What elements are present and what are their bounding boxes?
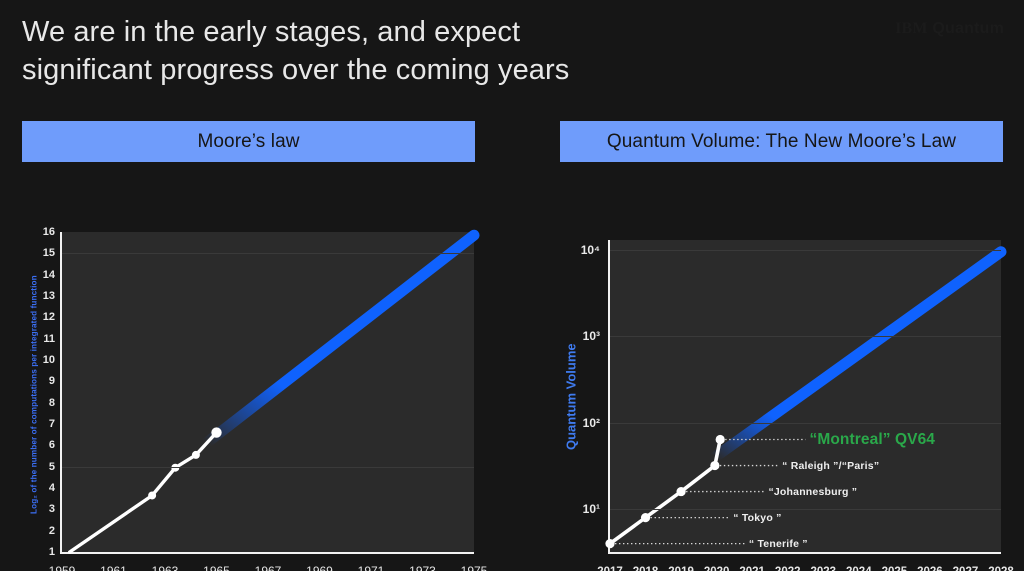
x-tick-label: 2025 (882, 566, 908, 571)
x-tick-label: 2024 (846, 566, 872, 571)
y-tick-label: 5 (49, 461, 55, 473)
y-tick-label: 4 (49, 482, 55, 494)
x-tick-label: 1973 (409, 564, 436, 571)
moores-law-panel-title: Moore’s law (22, 121, 475, 162)
gridline (610, 336, 1001, 337)
y-tick-label: 8 (49, 397, 55, 409)
y-tick-label: 10 (43, 354, 55, 366)
x-tick-label: 2019 (668, 566, 694, 571)
moores-law-series-layer (62, 232, 474, 552)
quantum-volume-panel-title: Quantum Volume: The New Moore’s Law (560, 121, 1003, 162)
y-tick-label: 10⁴ (581, 243, 600, 257)
x-tick-label: 2022 (775, 566, 801, 571)
y-tick-label: 9 (49, 375, 55, 387)
ibm-quantum-logo: IBM Quantum (895, 20, 1004, 38)
moores-law-plot-area: 1234567891011121314151619591961196319651… (60, 232, 474, 554)
x-tick-label: 2023 (810, 566, 836, 571)
moores-law-y-axis-label: Log₂ of the number of computations per i… (27, 237, 41, 552)
y-tick-label: 3 (49, 503, 55, 515)
gridline (610, 423, 1001, 424)
gridline (62, 467, 474, 468)
x-tick-label: 1967 (255, 564, 282, 571)
y-tick-label: 15 (43, 247, 55, 259)
quantum-volume-plot-area: 10¹10²10³10⁴2017201820192020202120222023… (608, 240, 1001, 554)
gridline (610, 250, 1001, 251)
annotation-label: “ Tenerife ” (749, 538, 808, 550)
x-tick-label: 1971 (358, 564, 385, 571)
page-title: We are in the early stages, and expect s… (22, 14, 722, 89)
y-tick-label: 2 (49, 525, 55, 537)
x-tick-label: 2026 (917, 566, 943, 571)
x-tick-label: 1961 (100, 564, 127, 571)
brand-quantum-text: Quantum (932, 20, 1004, 37)
y-tick-label: 7 (49, 418, 55, 430)
annotation-label: “ Tokyo ” (733, 512, 781, 524)
x-tick-label: 1963 (152, 564, 179, 571)
y-tick-label: 13 (43, 290, 55, 302)
x-tick-label: 1969 (306, 564, 333, 571)
annotation-label: “Johannesburg ” (768, 486, 857, 498)
brand-ibm-text: IBM (895, 20, 928, 37)
quantum-volume-series-layer (610, 240, 1001, 552)
x-tick-label: 2018 (633, 566, 659, 571)
moores-law-panel: Moore’s law Log₂ of the number of comput… (22, 121, 475, 557)
y-tick-label: 6 (49, 439, 55, 451)
annotation-label: “ Raleigh ”/“Paris” (782, 460, 879, 472)
x-tick-label: 2027 (953, 566, 979, 571)
moores-law-chart: Log₂ of the number of computations per i… (22, 177, 475, 557)
x-tick-label: 2020 (704, 566, 730, 571)
x-tick-label: 2017 (597, 566, 623, 571)
x-tick-label: 1965 (203, 564, 230, 571)
y-tick-label: 10³ (583, 329, 600, 343)
x-tick-label: 1975 (461, 564, 488, 571)
x-tick-label: 2028 (988, 566, 1014, 571)
y-tick-label: 14 (43, 269, 55, 281)
quantum-volume-panel: Quantum Volume: The New Moore’s Law Quan… (560, 121, 1003, 557)
slide-root: We are in the early stages, and expect s… (0, 0, 1024, 571)
x-tick-label: 2021 (739, 566, 765, 571)
y-tick-label: 1 (49, 546, 55, 558)
gridline (62, 253, 474, 254)
y-tick-label: 16 (43, 226, 55, 238)
quantum-volume-chart: Quantum Volume 10¹10²10³10⁴2017201820192… (560, 177, 1003, 557)
gridline (610, 509, 1001, 510)
y-tick-label: 10¹ (583, 502, 600, 516)
y-tick-label: 12 (43, 311, 55, 323)
y-tick-label: 10² (583, 416, 600, 430)
quantum-volume-y-axis-label: Quantum Volume (562, 247, 580, 547)
annotation-montreal: “Montreal” QV64 (810, 431, 936, 449)
y-tick-label: 11 (43, 333, 55, 345)
x-tick-label: 1959 (49, 564, 76, 571)
